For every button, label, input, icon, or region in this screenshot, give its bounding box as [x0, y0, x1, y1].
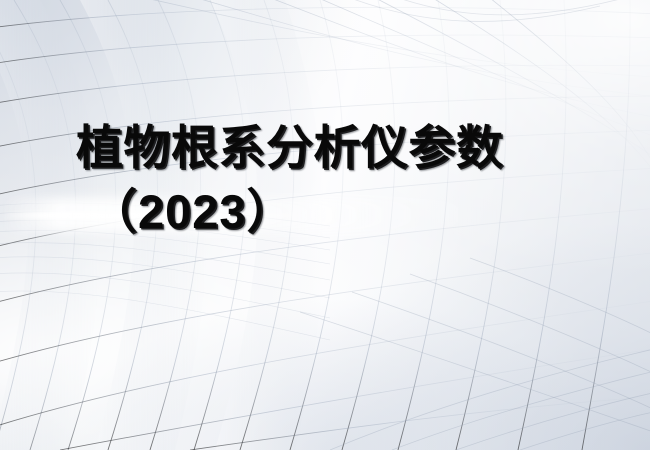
title-line-primary: 植物根系分析仪参数: [0, 116, 650, 180]
title-line-year: （2023）: [0, 180, 650, 244]
page-title: 植物根系分析仪参数 （2023）: [0, 116, 650, 244]
title-slide: 植物根系分析仪参数 （2023）: [0, 0, 650, 450]
